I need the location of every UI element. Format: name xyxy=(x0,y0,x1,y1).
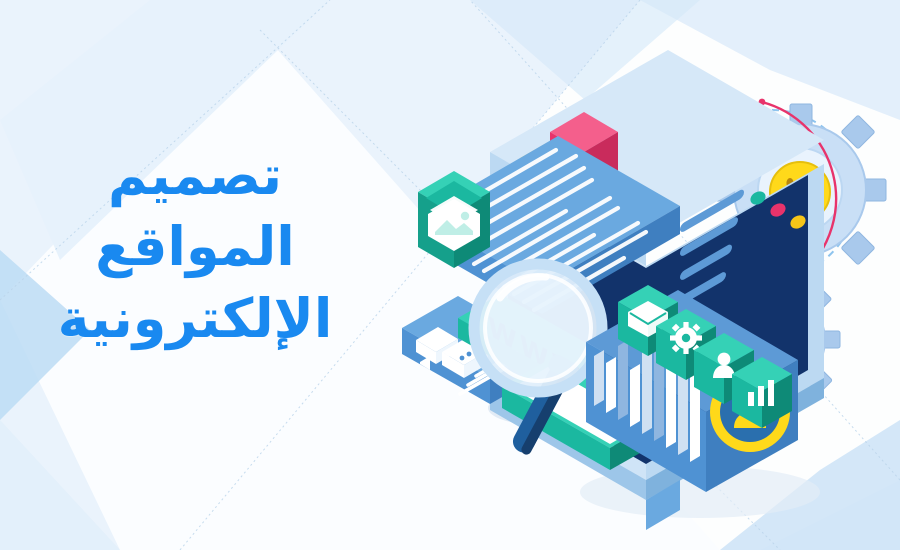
banner-canvas: تصميم المواقع الإلكترونية xyxy=(0,0,900,550)
page-title: تصميم المواقع الإلكترونية xyxy=(0,140,390,354)
headline-line-3: الإلكترونية xyxy=(0,283,390,354)
headline-line-1: تصميم xyxy=(0,140,390,211)
isometric-illustration: WWW xyxy=(380,40,900,530)
headline-line-2: المواقع xyxy=(0,211,390,282)
